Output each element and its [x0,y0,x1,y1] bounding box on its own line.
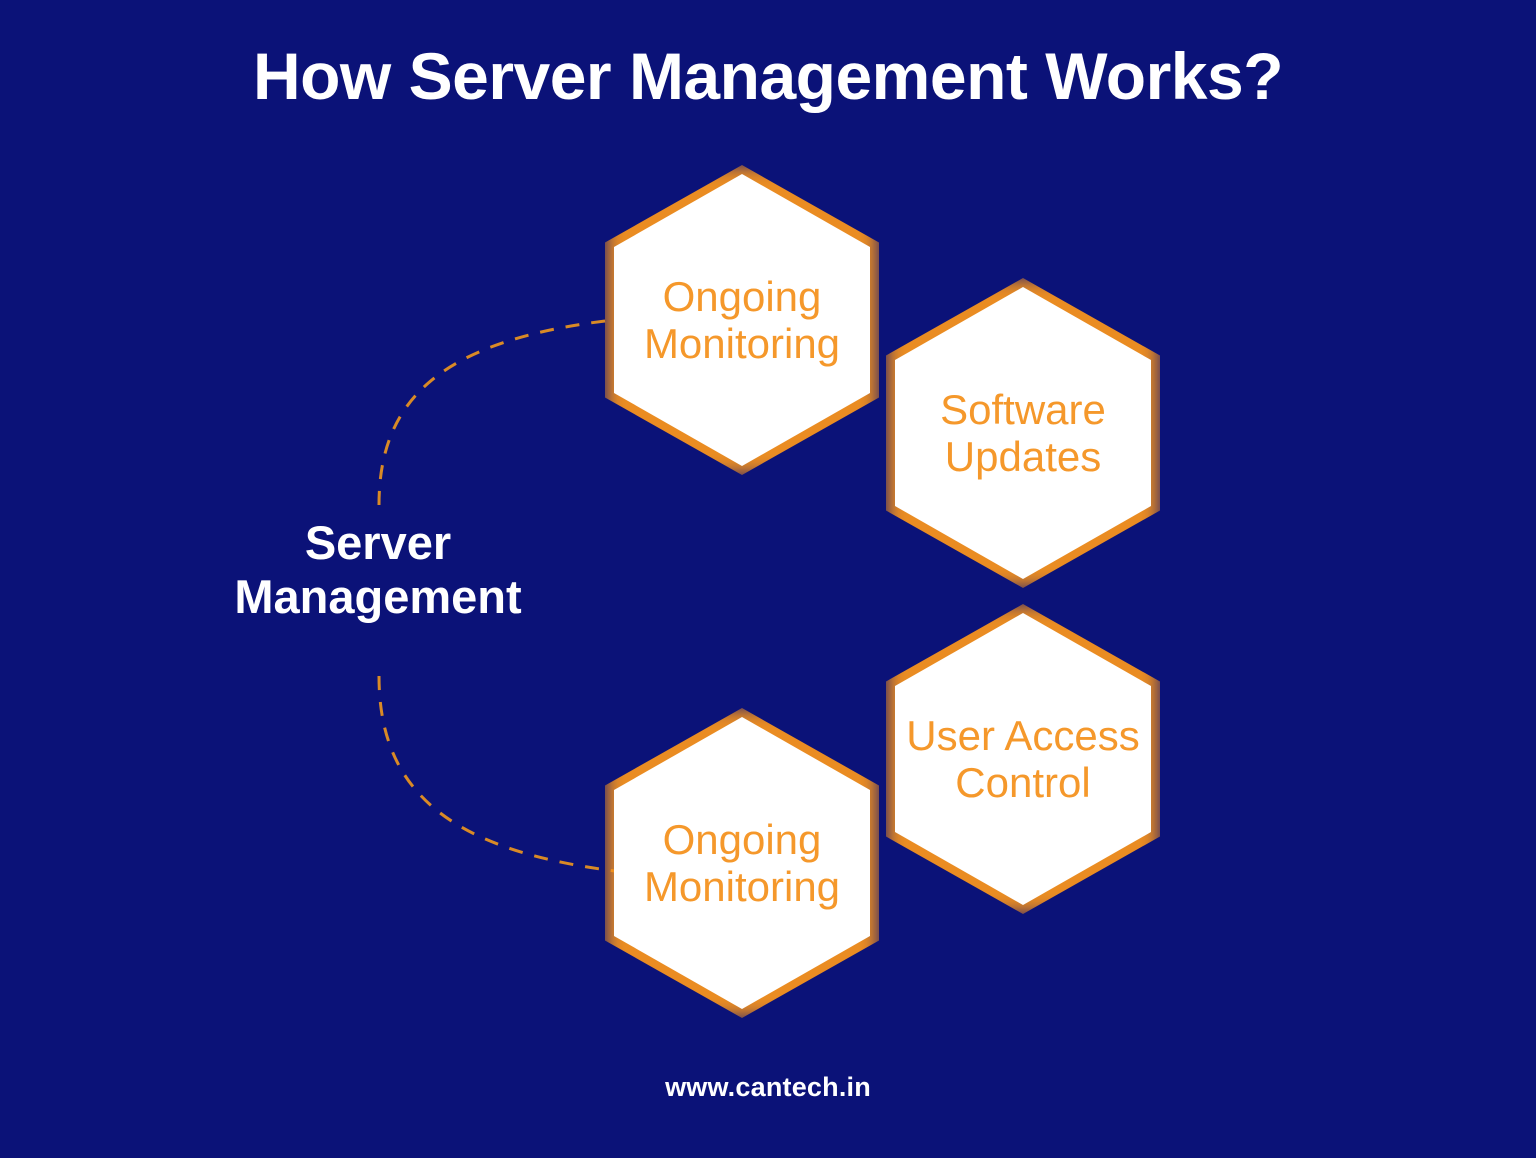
hexagon-label: Ongoing Monitoring [614,717,870,1009]
infographic-canvas: How Server Management Works? Server Mana… [0,0,1536,1158]
center-label: Server Management [158,516,598,624]
hexagon-node-user-access-control[interactable]: User Access Control [895,613,1151,905]
center-label-line2: Management [158,570,598,624]
hexagon-label-line1: Ongoing [644,273,840,320]
hexagon-node-ongoing-monitoring-bottom[interactable]: Ongoing Monitoring [614,717,870,1009]
page-title: How Server Management Works? [0,42,1536,111]
hexagon-label: User Access Control [895,613,1151,905]
hexagon-label-line2: Monitoring [644,863,840,910]
hexagon-label-line2: Updates [940,433,1106,480]
hexagon-label: Software Updates [895,287,1151,579]
center-label-line1: Server [158,516,598,570]
hexagon-label-line1: Software [940,386,1106,433]
footer-url[interactable]: www.cantech.in [0,1072,1536,1103]
hexagon-label-line2: Monitoring [644,320,840,367]
hexagon-label: Ongoing Monitoring [614,174,870,466]
hexagon-label-line1: Ongoing [644,816,840,863]
connector-line-bottom [379,676,615,871]
hexagon-label-line1: User Access [906,712,1139,759]
hexagon-label-line2: Control [906,759,1139,806]
hexagon-node-ongoing-monitoring-top[interactable]: Ongoing Monitoring [614,174,870,466]
hexagon-node-software-updates[interactable]: Software Updates [895,287,1151,579]
connector-line-top [379,320,613,505]
